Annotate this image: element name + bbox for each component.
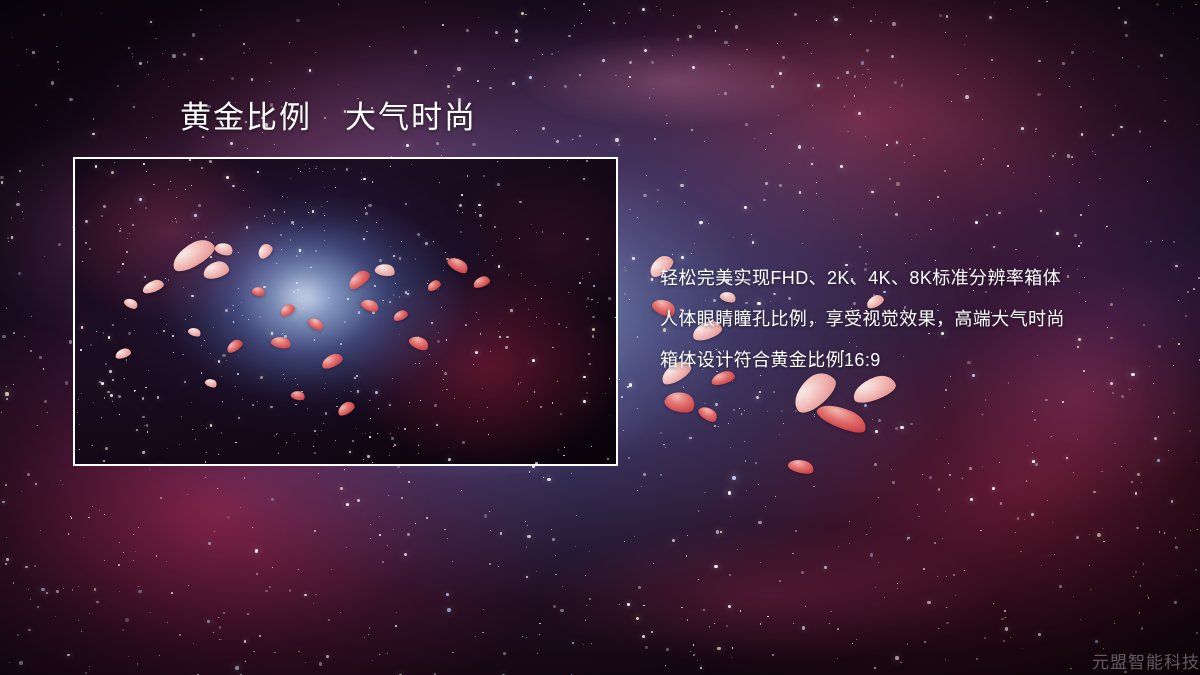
description-line-1: 轻松完美实现FHD、2K、4K、8K标准分辨率箱体 (660, 258, 1180, 299)
star (159, 465, 162, 466)
framed-image-panel[interactable] (73, 157, 618, 466)
watermark: 元盟智能科技 (1092, 648, 1200, 673)
star (597, 466, 600, 467)
page-title: 黄金比例 大气时尚 (180, 101, 477, 135)
star (155, 464, 156, 465)
star (617, 216, 618, 217)
description-text: 轻松完美实现FHD、2K、4K、8K标准分辨率箱体 人体眼睛瞳孔比例，享受视觉效… (660, 258, 1180, 381)
star (493, 465, 494, 466)
description-line-2: 人体眼睛瞳孔比例，享受视觉效果，高端大气时尚 (660, 299, 1180, 340)
presentation-slide: 黄金比例 大气时尚 轻松完美实现FHD、2K、4K、8K标准分辨率箱体 人体眼睛… (0, 0, 1200, 675)
description-line-3: 箱体设计符合黄金比例16:9 (660, 340, 1180, 381)
